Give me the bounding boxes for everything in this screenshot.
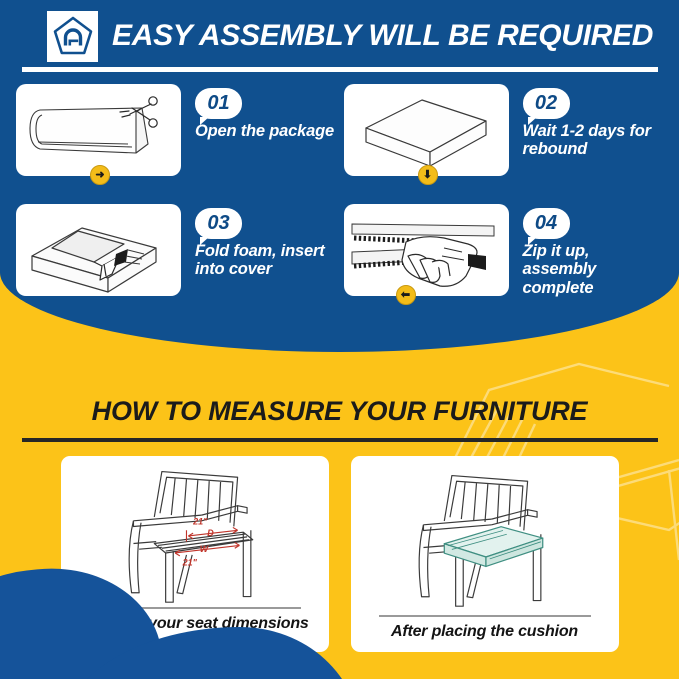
house-pentagon-icon [47, 11, 98, 62]
flat-foam-cushion-icon: ⬇ [344, 84, 509, 176]
step-number-badge: 01 [195, 88, 242, 119]
measure-title: HOW TO MEASURE YOUR FURNITURE [0, 396, 679, 427]
step-04-text: 04 Zip it up, assembly complete [523, 204, 664, 297]
chair-with-cushion-icon [363, 464, 607, 614]
step-label: Open the package [195, 122, 336, 140]
card-divider [379, 615, 591, 617]
step-number-badge: 02 [523, 88, 570, 119]
step-number-badge: 04 [523, 208, 570, 239]
card-caption: After placing the cushion [391, 623, 578, 642]
rolled-package-with-scissors-icon: ➜ [16, 84, 181, 176]
step-02-text: 02 Wait 1-2 days for rebound [523, 84, 664, 159]
step-01: ➜ 01 Open the package [16, 84, 336, 198]
step-number-badge: 03 [195, 208, 242, 239]
step-03: 03 Fold foam, insert into cover [16, 204, 336, 318]
dimension-label-depth-top: 21" [192, 517, 208, 527]
step-label: Zip it up, assembly complete [523, 242, 664, 297]
header: EASY ASSEMBLY WILL BE REQUIRED [0, 8, 679, 64]
measure-section: HOW TO MEASURE YOUR FURNITURE [0, 330, 679, 679]
assembly-steps: ➜ 01 Open the package ⬇ 02 [0, 84, 679, 318]
arrow-left-icon: ⬅ [396, 285, 416, 305]
step-04: ⬅ 04 Zip it up, assembly complete [344, 204, 664, 318]
header-divider [22, 67, 658, 72]
infographic-page: EASY ASSEMBLY WILL BE REQUIRED [0, 0, 679, 679]
dimension-label-depth: D [207, 528, 214, 538]
hand-zipping-cover-icon: ⬅ [344, 204, 509, 296]
measure-card-cushion: After placing the cushion [351, 456, 619, 652]
arrow-down-icon: ⬇ [418, 165, 438, 185]
dimension-label-width-bottom: 21" [181, 557, 197, 567]
measure-divider [22, 438, 658, 442]
step-01-text: 01 Open the package [195, 84, 336, 140]
foam-inserted-into-cover-icon [16, 204, 181, 296]
step-03-text: 03 Fold foam, insert into cover [195, 204, 336, 279]
page-title: EASY ASSEMBLY WILL BE REQUIRED [112, 19, 653, 53]
step-label: Wait 1-2 days for rebound [523, 122, 664, 159]
step-label: Fold foam, insert into cover [195, 242, 336, 279]
arrow-right-icon: ➜ [90, 165, 110, 185]
step-02: ⬇ 02 Wait 1-2 days for rebound [344, 84, 664, 198]
